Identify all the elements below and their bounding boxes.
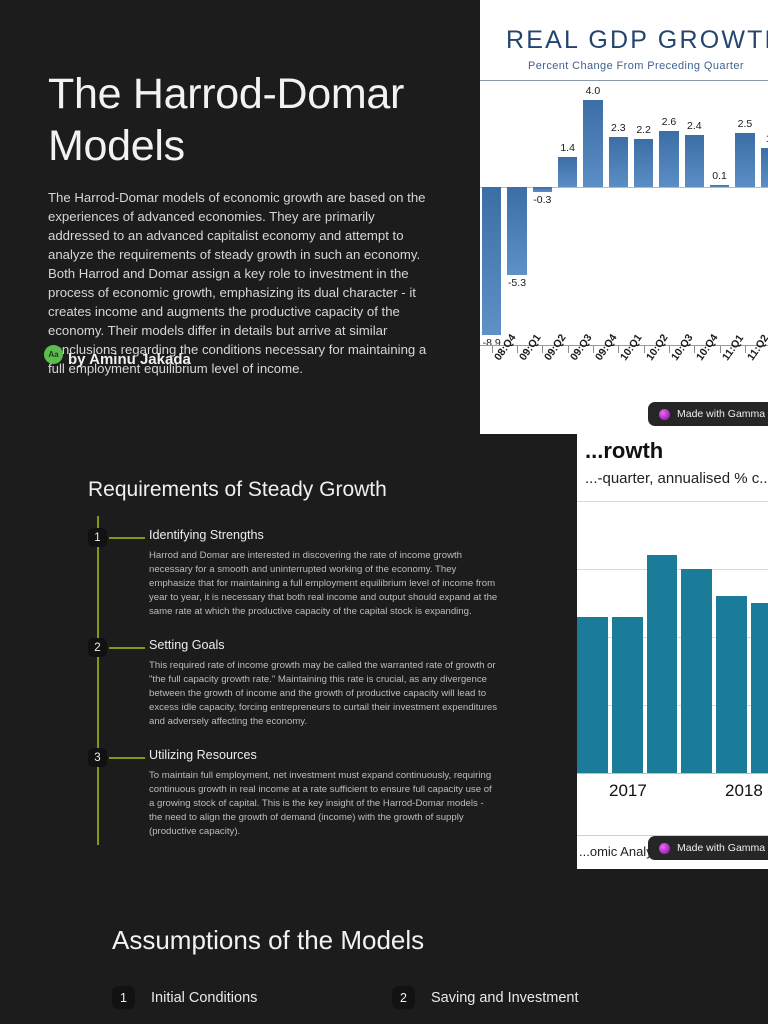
timeline-item-text: To maintain full employment, net investm… <box>149 769 498 839</box>
chart2-bar <box>751 603 768 773</box>
chart1-bar-value-label: 2.4 <box>687 120 702 132</box>
chart2-title: ...rowth <box>577 438 768 464</box>
chart1-bar-value-label: 2.5 <box>738 118 753 130</box>
chart1-tick: 11:Q1 <box>710 346 729 407</box>
chart2-bar <box>681 569 712 773</box>
chart1-tick: 09:Q4 <box>583 346 602 407</box>
chart1-tick: 09:Q1 <box>507 346 526 407</box>
chart1-bar <box>482 187 501 335</box>
chart2-bar <box>577 617 608 773</box>
chart1-bar-column: -8.9 <box>482 83 501 345</box>
chart2-plot-area <box>577 501 768 773</box>
chart1-title: REAL GDP GROWTH <box>506 26 768 55</box>
assumption-item-label: Initial Conditions <box>151 990 257 1006</box>
timeline-item-heading: Setting Goals <box>149 638 498 652</box>
chart1-bar <box>558 157 577 187</box>
chart1-bar <box>735 133 754 187</box>
chart1-bar <box>533 187 552 192</box>
timeline-item-body: Utilizing ResourcesTo maintain full empl… <box>88 748 498 839</box>
chart1-bar-column: 1.4 <box>558 83 577 345</box>
gdp-growth-secondary-chart: ...rowth ...-quarter, annualised % c... … <box>577 432 768 869</box>
assumption-item-number: 2 <box>392 986 415 1009</box>
chart1-bar-value-label: 4.0 <box>586 85 601 97</box>
timeline-item-number: 2 <box>88 638 107 657</box>
timeline-item[interactable]: 1Identifying StrengthsHarrod and Domar a… <box>88 528 498 619</box>
timeline-connector <box>109 537 145 539</box>
chart2-tick-2018: 2018 <box>725 781 763 801</box>
slide-canvas: The Harrod-Domar Models The Harrod-Domar… <box>0 0 768 1024</box>
chart1-bar <box>659 131 678 187</box>
chart1-header: REAL GDP GROWTH Percent Change From Prec… <box>480 0 768 81</box>
chart1-bar-value-label: 2.2 <box>636 124 651 136</box>
gamma-badge-label: Made with Gamma <box>677 408 765 420</box>
timeline-item-number: 1 <box>88 528 107 547</box>
timeline-item[interactable]: 3Utilizing ResourcesTo maintain full emp… <box>88 748 498 839</box>
chart2-subtitle: ...-quarter, annualised % c... <box>577 470 768 487</box>
chart1-bar-column: 2.2 <box>634 83 653 345</box>
chart1-bar-column: 1. <box>761 83 768 345</box>
chart2-x-axis: 2017 2018 <box>577 773 768 807</box>
assumption-item[interactable]: 1Initial Conditions <box>112 986 392 1009</box>
requirements-section: Requirements of Steady Growth 1Identifyi… <box>88 478 498 858</box>
timeline-item-number: 3 <box>88 748 107 767</box>
chart1-tick: 09:Q2 <box>533 346 552 407</box>
chart1-bar-value-label: 2.3 <box>611 122 626 134</box>
timeline-item-text: Harrod and Domar are interested in disco… <box>149 549 498 619</box>
timeline-connector <box>109 757 145 759</box>
chart1-bar <box>507 187 526 275</box>
text-style-aa-icon[interactable]: Aa <box>44 345 63 364</box>
timeline-item-text: This required rate of income growth may … <box>149 659 498 729</box>
requirements-title: Requirements of Steady Growth <box>88 478 498 502</box>
chart1-plot-area: -8.9-5.3-0.31.44.02.32.22.62.40.12.51. <box>480 83 768 345</box>
chart1-bar-value-label: 0.1 <box>712 170 727 182</box>
assumptions-title: Assumptions of the Models <box>112 925 672 956</box>
timeline-item-body: Setting GoalsThis required rate of incom… <box>88 638 498 729</box>
chart2-bar <box>647 555 678 773</box>
made-with-gamma-badge[interactable]: Made with Gamma <box>648 402 768 426</box>
chart1-tick: 08:Q4 <box>482 346 501 407</box>
chart1-bar-column: 2.3 <box>609 83 628 345</box>
assumption-item[interactable]: 2Saving and Investment <box>392 986 672 1009</box>
timeline-item-body: Identifying StrengthsHarrod and Domar ar… <box>88 528 498 619</box>
assumption-item-label: Saving and Investment <box>431 990 579 1006</box>
chart1-bar-value-label: -0.3 <box>533 194 551 206</box>
hero-section: The Harrod-Domar Models The Harrod-Domar… <box>0 0 480 435</box>
chart1-bar-group: -8.9-5.3-0.31.44.02.32.22.62.40.12.51. <box>480 83 768 345</box>
chart1-bar-value-label: 2.6 <box>662 116 677 128</box>
chart2-bar <box>716 596 747 773</box>
chart1-bar <box>685 135 704 187</box>
chart1-bar <box>634 139 653 187</box>
assumptions-section: Assumptions of the Models 1Initial Condi… <box>112 925 672 1009</box>
timeline-connector <box>109 647 145 649</box>
assumption-item-number: 1 <box>112 986 135 1009</box>
chart2-bar-group <box>577 501 768 773</box>
chart1-tick: 11:Q2 <box>735 346 754 407</box>
gamma-logo-icon <box>659 843 670 854</box>
gamma-logo-icon <box>659 409 670 420</box>
chart1-tick: 11:Q3 <box>761 346 768 407</box>
requirements-timeline: 1Identifying StrengthsHarrod and Domar a… <box>88 528 498 839</box>
chart1-tick: 10:Q1 <box>609 346 628 407</box>
gamma-badge-label: Made with Gamma <box>677 842 765 854</box>
chart2-tick-2017: 2017 <box>609 781 647 801</box>
chart1-bar-column: 0.1 <box>710 83 729 345</box>
timeline-item[interactable]: 2Setting GoalsThis required rate of inco… <box>88 638 498 729</box>
chart1-tick: 09:Q3 <box>558 346 577 407</box>
chart1-bar-value-label: -5.3 <box>508 277 526 289</box>
chart1-bar <box>609 137 628 187</box>
real-gdp-growth-chart: REAL GDP GROWTH Percent Change From Prec… <box>480 0 768 434</box>
chart1-bar-column: 2.4 <box>685 83 704 345</box>
chart1-bar-column: -5.3 <box>507 83 526 345</box>
chart1-x-axis: 08:Q409:Q109:Q209:Q309:Q410:Q110:Q210:Q3… <box>480 345 768 407</box>
hero-paragraph: The Harrod-Domar models of economic grow… <box>48 188 430 378</box>
chart1-bar-column: 4.0 <box>583 83 602 345</box>
page-title: The Harrod-Domar Models <box>48 68 448 172</box>
timeline-item-heading: Utilizing Resources <box>149 748 498 762</box>
chart1-bar-value-label: 1.4 <box>560 142 575 154</box>
chart1-bar-column: -0.3 <box>533 83 552 345</box>
chart1-tick: 10:Q3 <box>659 346 678 407</box>
assumptions-list: 1Initial Conditions2Saving and Investmen… <box>112 986 672 1009</box>
author-byline: by Aminu Jakada <box>68 351 191 368</box>
chart1-tick: 10:Q4 <box>685 346 704 407</box>
chart1-bar-column: 2.5 <box>735 83 754 345</box>
chart2-bar <box>612 617 643 773</box>
chart1-tick: 10:Q2 <box>634 346 653 407</box>
made-with-gamma-badge[interactable]: Made with Gamma <box>648 836 768 860</box>
chart1-bar <box>710 185 729 187</box>
chart1-bar <box>761 148 768 187</box>
timeline-item-heading: Identifying Strengths <box>149 528 498 542</box>
chart1-bar <box>583 100 602 187</box>
chart1-subtitle: Percent Change From Preceding Quarter <box>506 60 768 72</box>
chart1-bar-column: 2.6 <box>659 83 678 345</box>
